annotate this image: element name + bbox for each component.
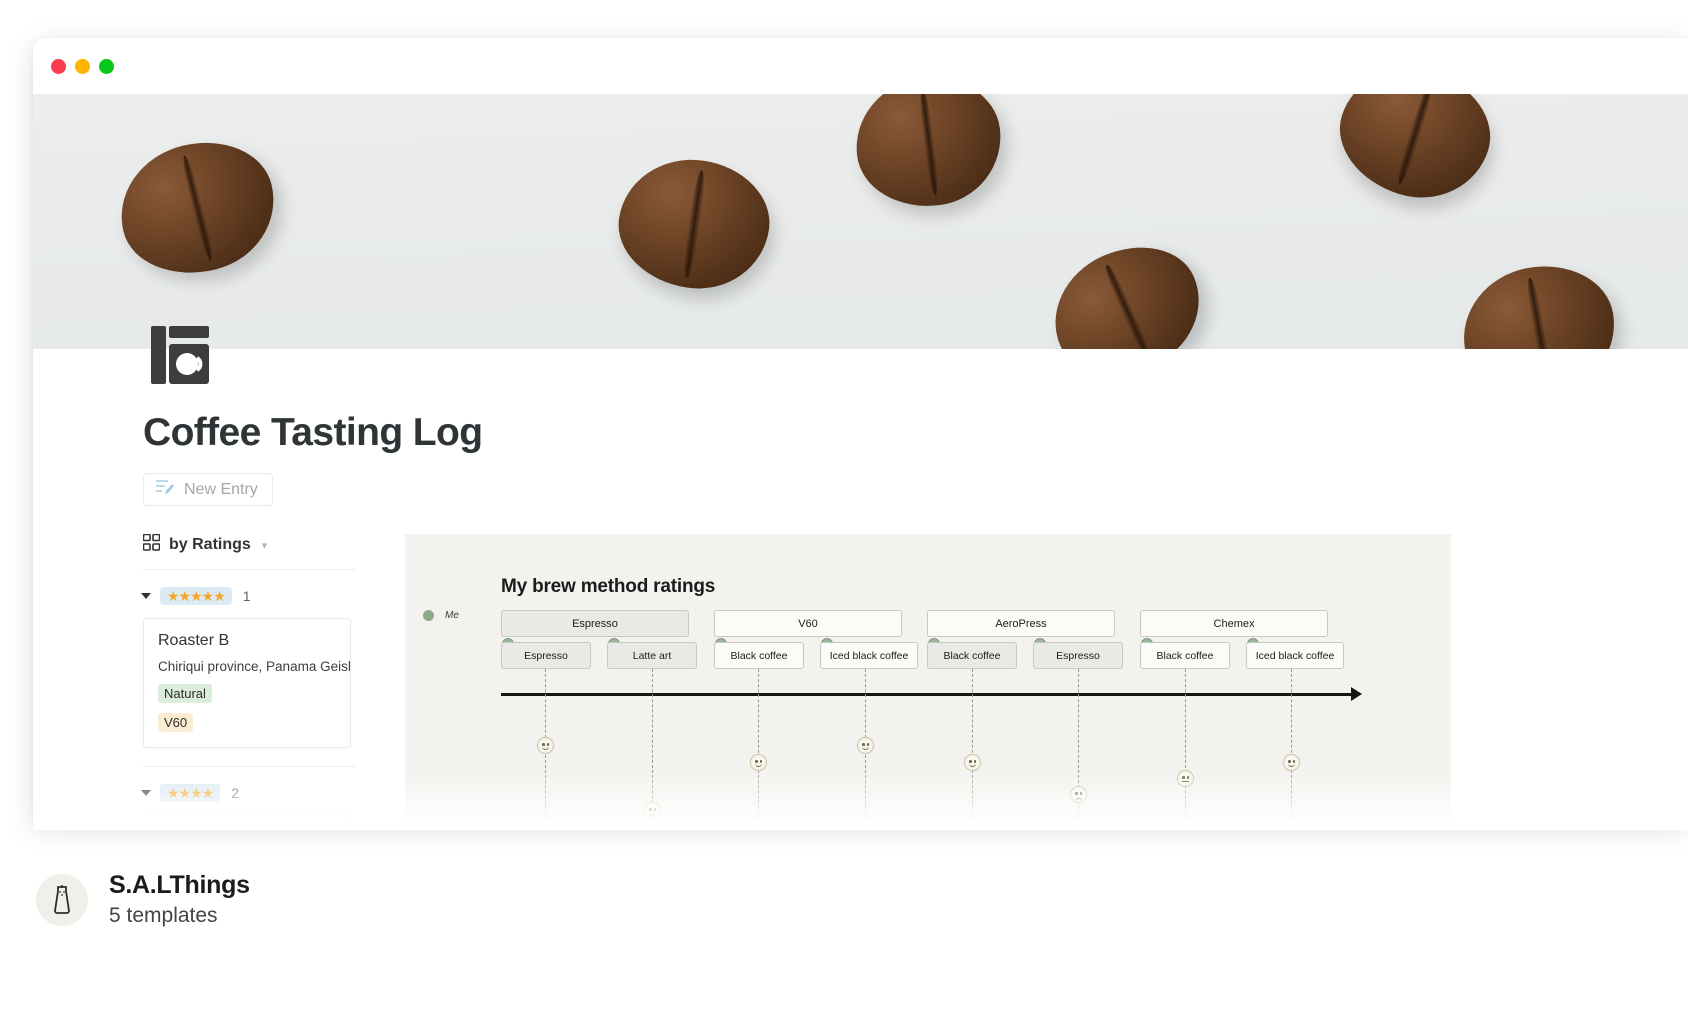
rating-face-happy <box>537 737 554 754</box>
connector-line <box>972 669 973 823</box>
coffee-bean-decoration <box>1453 255 1625 349</box>
rating-face-happy <box>964 754 981 771</box>
drink-box-aeropress-espresso[interactable]: Espresso <box>1033 642 1123 669</box>
timeline-axis <box>501 693 1355 696</box>
connector-line <box>652 669 653 823</box>
coffee-bean-decoration <box>611 150 777 298</box>
axis-arrow-icon <box>1351 687 1362 701</box>
card-subtitle: Chiriqui province, Panama Geisha <box>158 659 336 674</box>
chart-column: My brew method ratings Me Espresso V60 A… <box>355 534 1688 823</box>
collapse-toggle-icon[interactable] <box>141 790 151 796</box>
avatar[interactable] <box>36 874 88 926</box>
connector-line <box>758 669 759 823</box>
new-entry-label: New Entry <box>184 481 258 499</box>
drink-box-espresso-latte-art[interactable]: Latte art <box>607 642 697 669</box>
drink-box-espresso-espresso[interactable]: Espresso <box>501 642 591 669</box>
connector-line <box>1185 669 1186 823</box>
collapse-toggle-icon[interactable] <box>141 593 151 599</box>
list-item[interactable]: Roaster B Chiriqui province, Panama Geis… <box>143 618 351 748</box>
browser-window: Coffee Tasting Log New Entry <box>33 38 1688 823</box>
board-view-label: by Ratings <box>169 536 251 554</box>
coffee-maker-icon[interactable] <box>143 318 217 392</box>
chevron-down-icon[interactable]: ▾ <box>262 539 268 552</box>
content-columns: by Ratings ▾ ★★★★★ 1 Roaster B Chiriqui … <box>143 534 1688 823</box>
rating-face-happy <box>1283 754 1300 771</box>
method-box-v60[interactable]: V60 <box>714 610 902 637</box>
drink-box-chemex-iced-black-coffee[interactable]: Iced black coffee <box>1246 642 1344 669</box>
coffee-bean-decoration <box>1325 94 1505 215</box>
rating-face-neutral <box>1177 770 1194 787</box>
chart-legend: Me <box>423 610 459 621</box>
new-entry-icon <box>155 478 175 501</box>
rating-face-happy <box>750 754 767 771</box>
screenshot-stage: Coffee Tasting Log New Entry <box>0 0 1688 1034</box>
brand-footer: S.A.LThings 5 templates <box>36 871 250 928</box>
rating-group: ★★★★★ 1 Roaster B Chiriqui province, Pan… <box>143 587 355 748</box>
connector-line <box>1291 669 1292 823</box>
legend-color-swatch <box>423 610 434 621</box>
brand-name: S.A.LThings <box>109 871 250 900</box>
board-sidebar: by Ratings ▾ ★★★★★ 1 Roaster B Chiriqui … <box>143 534 355 823</box>
rating-group-header[interactable]: ★★★★★ 1 <box>143 587 355 605</box>
grid-icon <box>143 534 160 556</box>
status-badge: ★★★★ <box>160 784 220 802</box>
coffee-bean-decoration <box>1034 226 1220 349</box>
drink-box-aeropress-black-coffee[interactable]: Black coffee <box>927 642 1017 669</box>
maximize-window-button[interactable] <box>99 59 114 74</box>
legend-label: Me <box>445 610 459 621</box>
card-title: Roaster B <box>158 632 336 650</box>
status-badge: ★★★★★ <box>160 587 232 605</box>
rating-group: ★★★★ 2 <box>143 784 355 823</box>
drink-box-v60-iced-black-coffee[interactable]: Iced black coffee <box>820 642 918 669</box>
list-item[interactable] <box>143 815 351 823</box>
board-view-selector[interactable]: by Ratings ▾ <box>143 534 355 570</box>
method-box-espresso[interactable]: Espresso <box>501 610 689 637</box>
cover-photo[interactable] <box>33 94 1688 349</box>
coffee-bean-decoration <box>107 127 288 289</box>
new-entry-button[interactable]: New Entry <box>143 473 273 506</box>
page-title: Coffee Tasting Log <box>143 411 1688 455</box>
rating-group-count: 2 <box>231 785 239 801</box>
method-box-aeropress[interactable]: AeroPress <box>927 610 1115 637</box>
rating-group-header[interactable]: ★★★★ 2 <box>143 784 355 802</box>
brand-template-count: 5 templates <box>109 904 250 928</box>
rating-face-happy <box>857 737 874 754</box>
page-body: Coffee Tasting Log New Entry <box>33 411 1688 823</box>
drink-box-v60-black-coffee[interactable]: Black coffee <box>714 642 804 669</box>
rating-face-sad <box>644 802 661 819</box>
divider <box>143 766 355 767</box>
window-titlebar <box>33 38 1688 94</box>
card-tag-method: V60 <box>158 713 193 732</box>
drink-box-chemex-black-coffee[interactable]: Black coffee <box>1140 642 1230 669</box>
card-tag-process: Natural <box>158 684 212 703</box>
coffee-bean-decoration <box>849 94 1009 214</box>
rating-group-count: 1 <box>243 588 251 604</box>
chart-title: My brew method ratings <box>501 576 715 598</box>
brew-method-chart[interactable]: My brew method ratings Me Espresso V60 A… <box>405 534 1451 823</box>
rating-face-sad <box>1070 786 1087 803</box>
method-box-chemex[interactable]: Chemex <box>1140 610 1328 637</box>
close-window-button[interactable] <box>51 59 66 74</box>
minimize-window-button[interactable] <box>75 59 90 74</box>
